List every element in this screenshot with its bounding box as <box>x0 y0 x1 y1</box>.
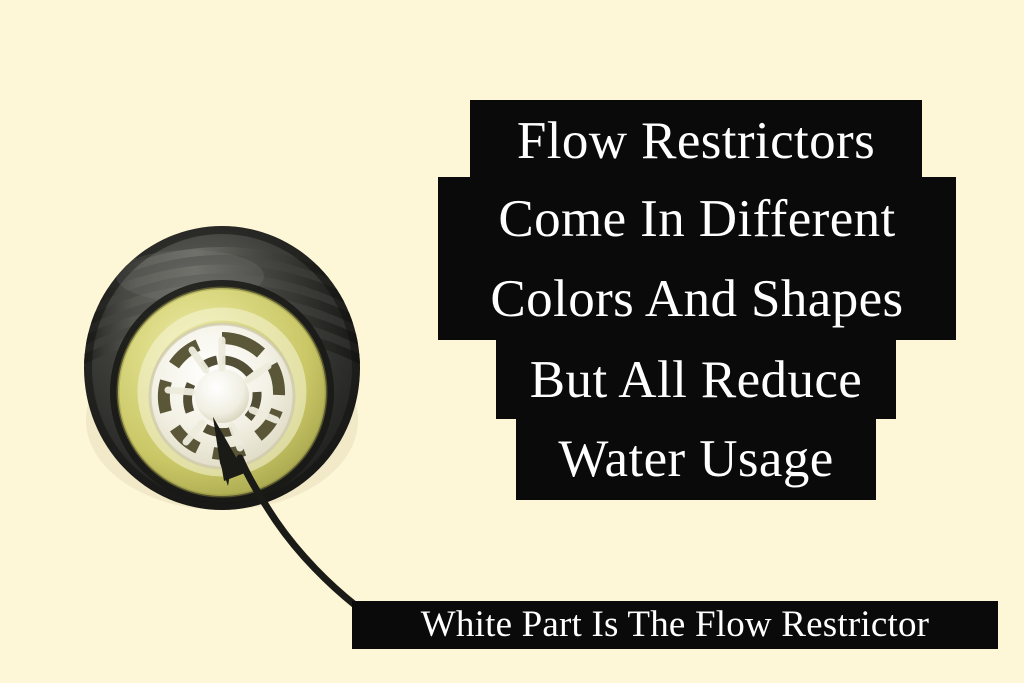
headline-line-1: Flow Restrictors <box>470 100 922 177</box>
white-flow-restrictor <box>150 324 294 468</box>
restrictor-hub <box>195 369 249 423</box>
caption-bar: White Part Is The Flow Restrictor <box>352 601 998 649</box>
headline-line-5: Water Usage <box>516 419 876 500</box>
infographic-canvas: Flow Restrictors Come In Different Color… <box>0 0 1024 683</box>
headline-line-2: Come In Different <box>438 177 956 259</box>
aerator-photo <box>72 220 372 510</box>
headline-line-4: But All Reduce <box>496 340 896 419</box>
headline-line-3: Colors And Shapes <box>438 259 956 340</box>
